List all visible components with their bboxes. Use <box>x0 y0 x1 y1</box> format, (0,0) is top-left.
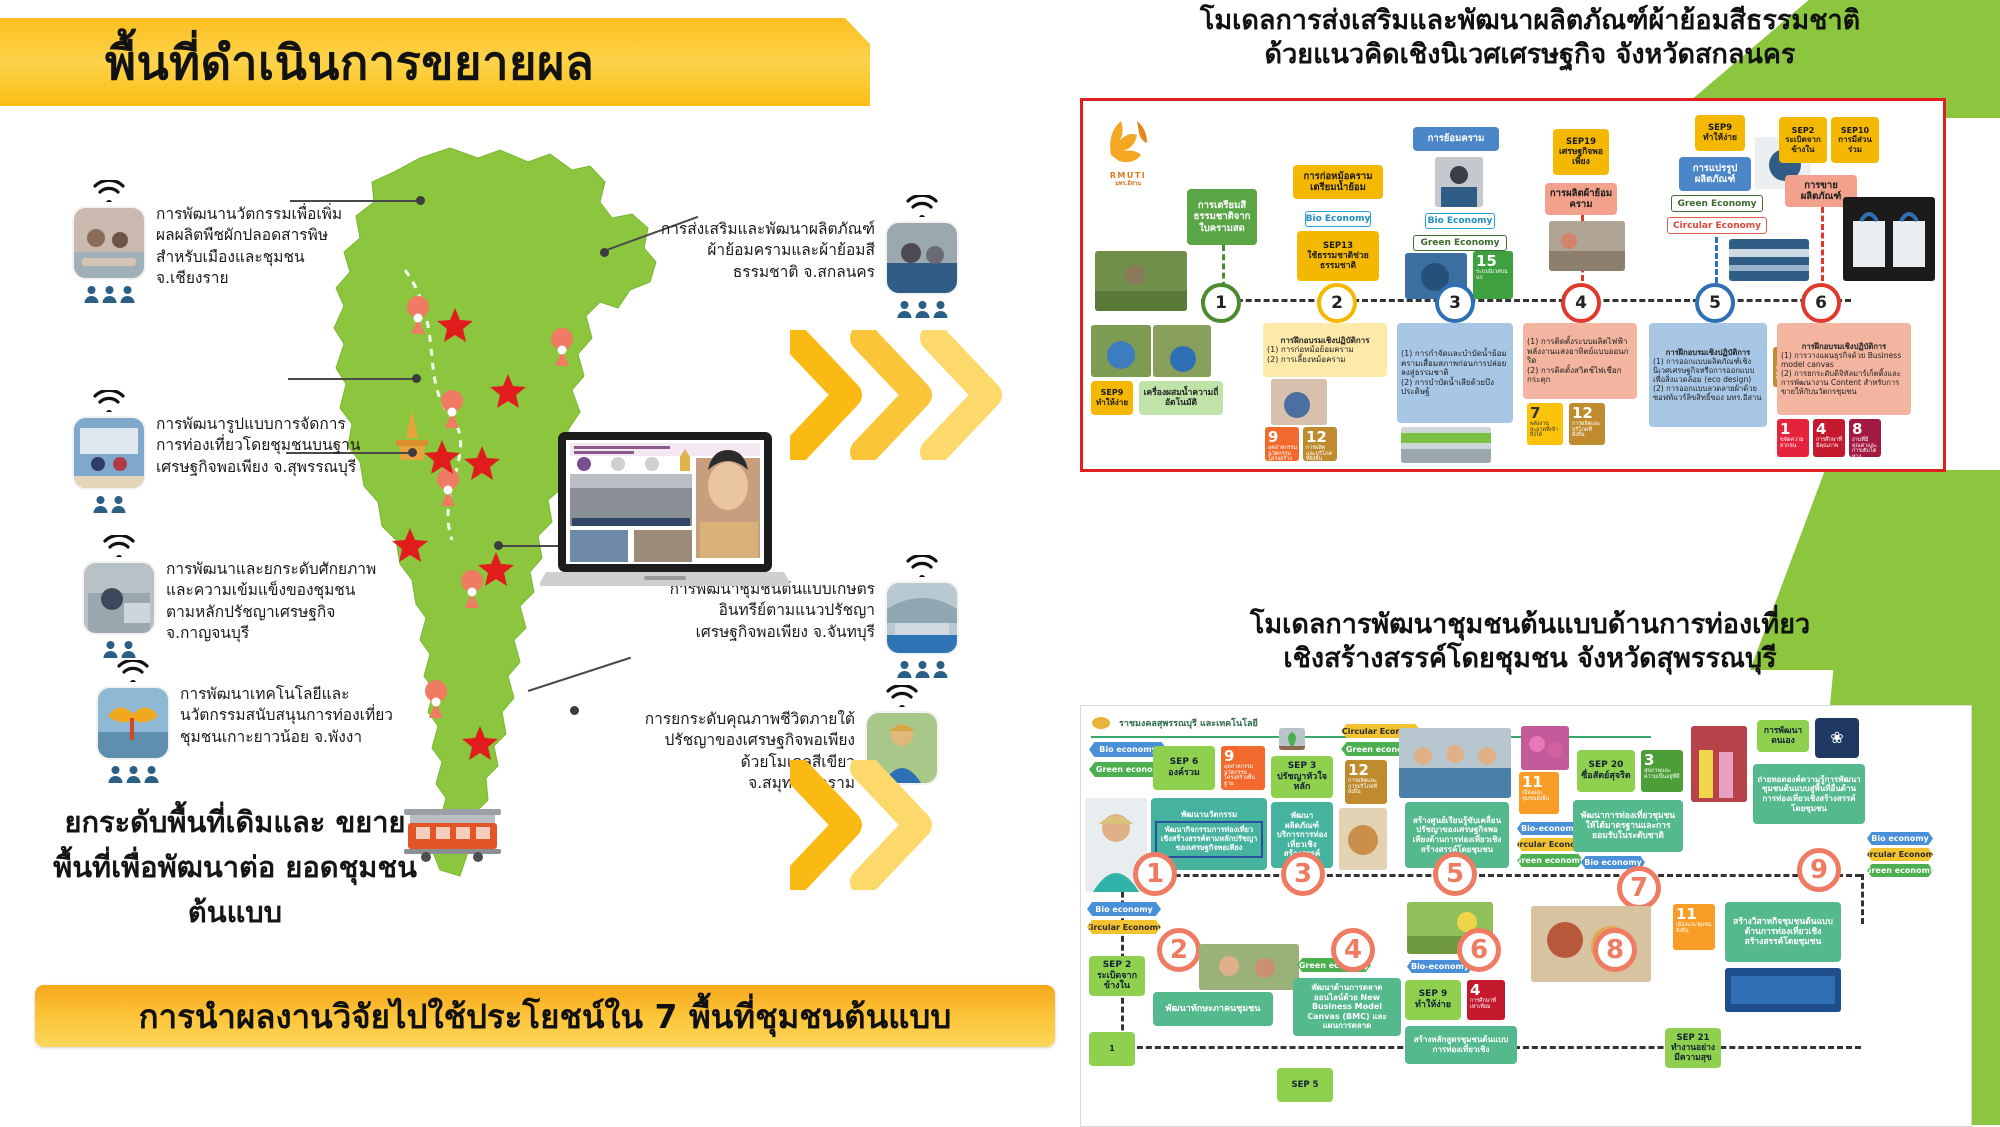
step6-photo-bags <box>1843 197 1935 281</box>
step2-photo <box>1271 379 1327 425</box>
wifi-icon <box>116 660 150 682</box>
sdg-badge: 7 พลังงานสะอาดที่เข้าถึงได้ <box>1527 403 1563 445</box>
suphan-photo-group <box>1399 728 1511 798</box>
sdg-badge: 9 อุตสาหกรรม นวัตกรรม โครงสร้างพื้นฐาน <box>1221 746 1265 790</box>
sdg-badge: 9 อุตสาหกรรม นวัตกรรม โครงสร้างพื้นฐาน <box>1265 427 1299 461</box>
rmuti-logo-icon <box>1097 111 1159 173</box>
sdg-number: 4 <box>1816 422 1842 437</box>
sdg-text: พลังงานสะอาดที่เข้าถึงได้ <box>1530 422 1560 439</box>
sep-code: SEP 9 <box>1419 989 1448 1000</box>
person-icon <box>915 660 930 678</box>
step1-sep-badge: SEP9ทำให้ง่าย <box>1091 381 1133 415</box>
person-icon <box>897 660 912 678</box>
heading-sakon-model: โมเดลการส่งเสริมและพัฒนาผลิตภัณฑ์ผ้าย้อม… <box>1080 4 1980 72</box>
annotation-photo <box>72 206 146 280</box>
suphan-box-c9: ถ่ายทอดองค์ความรู้การพัฒนาชุมชนต้นแบบสู่… <box>1753 764 1865 824</box>
annotation-sakonnakhon: การส่งเสริมและพัฒนาผลิตภัณฑ์ผ้าย้อมครามแ… <box>660 195 959 318</box>
hex-circular-economy: Circular Economy <box>1867 848 1933 861</box>
sep-text: เศรษฐกิจพอเพียง <box>1557 147 1605 167</box>
sdg-badge: 11 เมืองและชุมชนยั่งยืน <box>1519 772 1559 814</box>
person-icon <box>933 660 948 678</box>
sdg-text: เมืองและชุมชนยั่งยืน <box>1522 791 1556 802</box>
step-node-6: 6 <box>1801 283 1841 323</box>
wifi-icon <box>905 555 939 577</box>
bottom-banner-text: การนำผลงานวิจัยไปใช้ประโยชน์ใน 7 พื้นที่… <box>139 990 952 1043</box>
step2-title-chip: การก่อหม้อคราม เตรียมน้ำย้อม <box>1293 165 1383 199</box>
connector-dot <box>494 541 503 550</box>
rmuti-subname: มทร.อีสาน <box>1089 180 1167 188</box>
laptop-graphic <box>540 430 790 610</box>
step4-solar-box: (1) การติดตั้งระบบผลิตไฟฟ้าพลังงานแสงอาท… <box>1523 323 1637 399</box>
step-bubble-1: 1 <box>1133 852 1177 896</box>
people-count-icons <box>103 640 136 658</box>
bottom-summary-banner: การนำผลงานวิจัยไปใช้ประโยชน์ใน 7 พื้นที่… <box>35 985 1055 1047</box>
wifi-icon <box>102 535 136 557</box>
person-icon <box>126 765 141 783</box>
person-icon <box>120 285 135 303</box>
person-icon <box>108 765 123 783</box>
tram-svg <box>400 805 505 863</box>
training-title: การฝึกอบรมเชิงปฏิบัติการ <box>1280 336 1369 346</box>
sdg-text: การศึกษาที่มีคุณภาพ <box>1816 438 1842 449</box>
sdg-number: 9 <box>1268 430 1296 445</box>
rmuti-name: RMUTI <box>1110 171 1147 180</box>
step1-title-chip: การเตรียมสีธรรมชาติจากใบครามสด <box>1187 189 1257 245</box>
step-bubble-2: 2 <box>1157 928 1201 972</box>
suphan-step-mini: 1 <box>1089 1032 1135 1066</box>
sdg-badge: 12 การผลิตและบริโภคที่ยั่งยืน <box>1569 403 1605 445</box>
annotation-photo <box>96 686 170 760</box>
step3-title-chip: การย้อมคราม <box>1413 127 1499 151</box>
diagram-panel-sakon: RMUTI มทร.อีสาน การเตรียมสีธรรมชาติจากใบ… <box>1080 98 1946 472</box>
people-count-icons <box>108 765 159 783</box>
sep-code: SEP9 <box>1101 388 1124 397</box>
sdg-number: 12 <box>1572 406 1602 421</box>
sep-code: SEP19 <box>1566 137 1596 147</box>
sdg-badge: 1 ขจัดความยากจน <box>1777 419 1809 457</box>
sdg-number: 1 <box>1780 422 1806 437</box>
heading-sakon-line1: โมเดลการส่งเสริมและพัฒนาผลิตภัณฑ์ผ้าย้อม… <box>1080 4 1980 72</box>
step-bubble-6: 6 <box>1457 928 1501 972</box>
sep-code: SEP 3 <box>1288 761 1317 772</box>
annotation-phangnga: การพัฒนาเทคโนโลยีและนวัตกรรมสนับสนุนการท… <box>96 660 395 783</box>
step-node-3: 3 <box>1435 283 1475 323</box>
wifi-icon <box>905 195 939 217</box>
suphan-box-c6: สร้างหลักสูตรชุมชนต้นแบบการท่องเที่ยวเชิ… <box>1405 1026 1517 1064</box>
suphan-photo-product <box>1339 808 1387 870</box>
connector-dot <box>412 374 421 383</box>
annotation-photo <box>72 416 146 490</box>
suphan-sep2-badge: SEP 2 ระเบิดจากข้างใน <box>1089 956 1145 996</box>
heading-suphan-line1: โมเดลการพัฒนาชุมชนต้นแบบด้านการท่องเที่ย… <box>1080 608 1980 676</box>
sdg-badge: 4 การศึกษาที่มีคุณภาพ <box>1813 419 1845 457</box>
sdg-number: 11 <box>1676 907 1712 922</box>
suphan-header-text: ราชมงคลสุพรรณบุรี และเทคโนโลยี <box>1119 716 1258 730</box>
page-title: พื้นที่ดำเนินการขยายผล <box>105 25 594 100</box>
sdg-text: เมืองและชุมชนยั่งยืน <box>1676 923 1712 934</box>
sdg-number: 8 <box>1852 422 1878 437</box>
annotation-chiangrai: การพัฒนานวัตกรรมเพื่อเพิ่มผลผลิตพืชผักปล… <box>72 180 371 303</box>
step1-bottom-photo-b <box>1153 325 1211 377</box>
sdg-badge: 3 สุขภาพและความเป็นอยู่ที่ดี <box>1641 750 1683 792</box>
step5-photo-cloth <box>1729 239 1809 281</box>
annotation-media <box>82 535 156 658</box>
hex-green-economy: Green economy <box>1867 864 1933 877</box>
main-title-banner: พื้นที่ดำเนินการขยายผล <box>0 18 870 106</box>
connector-line <box>288 378 416 380</box>
step3-green-tag: Green Economy <box>1413 235 1507 251</box>
sdg-number: 9 <box>1224 749 1262 764</box>
sdg-text: อุตสาหกรรม นวัตกรรม โครงสร้างพื้นฐาน <box>1224 765 1262 788</box>
step4-photo <box>1549 221 1625 271</box>
person-icon <box>103 640 118 658</box>
sep-text: ทำให้ง่าย <box>1703 133 1737 143</box>
step2-sep-badge: SEP13 ใช้ธรรมชาติช่วยธรรมชาติ <box>1297 231 1379 281</box>
chevron-arrows-upper-svg <box>790 330 1030 460</box>
sep-text: ทำงานอย่างมีความสุข <box>1669 1043 1717 1063</box>
wifi-icon <box>885 685 919 707</box>
step-bubble-3: 3 <box>1281 852 1325 896</box>
people-count-icons <box>897 660 948 678</box>
sdg-number: 4 <box>1470 983 1502 998</box>
sdg-number: 3 <box>1644 753 1680 768</box>
sep-code: SEP2 <box>1792 126 1815 136</box>
sdg-number: 7 <box>1530 406 1560 421</box>
suphan-photo-training <box>1199 944 1299 990</box>
sep-text: องค์รวม <box>1168 768 1200 779</box>
sdg-badge: 11 เมืองและชุมชนยั่งยืน <box>1673 904 1715 950</box>
chevron-arrows-upper <box>790 330 1030 460</box>
wifi-icon <box>92 390 126 412</box>
rmuti-logo-caption: RMUTI มทร.อีสาน <box>1089 171 1167 188</box>
suphan-sprout-icon <box>1279 728 1305 750</box>
sdg-number: 11 <box>1522 775 1556 790</box>
suphan-sep9-badge: SEP 9 ทำให้ง่าย <box>1405 980 1461 1020</box>
step3-wetland-photo <box>1401 427 1491 463</box>
sdg-text: ขจัดความยากจน <box>1780 438 1806 449</box>
annotation-text: การพัฒนารูปแบบการจัดการการท่องเที่ยวโดยช… <box>156 390 371 478</box>
sdg-number: 12 <box>1348 763 1384 778</box>
step6-connector <box>1821 207 1824 281</box>
flow-spine-right <box>1861 874 1864 924</box>
suphan-photo-banner <box>1725 968 1841 1012</box>
sep-code: SEP 5 <box>1291 1080 1318 1090</box>
annotation-media <box>885 195 959 318</box>
person-icon <box>121 640 136 658</box>
step2-bio-tag: Bio Economy <box>1305 211 1371 227</box>
annotation-photo <box>82 561 156 635</box>
person-icon <box>102 285 117 303</box>
sdg-text: การผลิตและการบริโภคที่ยั่งยืน <box>1348 779 1384 796</box>
suphan-box-c2: พัฒนาทักษะภาคนชุมชน <box>1153 992 1273 1026</box>
sdg-text: การผลิตและบริโภคที่ยั่งยืน <box>1306 446 1334 461</box>
suphan-flower-icon: ❀ <box>1815 718 1859 758</box>
step3-water-box: (1) การกำจัดและบำบัดน้ำย้อมครามเสื่อมสภา… <box>1397 323 1513 423</box>
suphan-box-c7: พัฒนาการท่องเที่ยวชุมชนให้ได้มาตรฐานและก… <box>1573 800 1683 852</box>
design-text: (1) การออกแบบผลิตภัณฑ์เชิงนิเวศเศรษฐกิจห… <box>1653 357 1763 403</box>
step6-sep2-badge: SEP2 ระเบิดจากข้างใน <box>1779 117 1827 163</box>
sep-text: ระเบิดจากข้างใน <box>1783 135 1823 154</box>
laptop-svg <box>540 430 790 610</box>
suphan-photo-costume <box>1691 726 1747 802</box>
tram-icon <box>400 805 505 863</box>
step5-connector <box>1715 237 1718 283</box>
slide-root: พื้นที่ดำเนินการขยายผล โมเดลการส่งเสริมแ… <box>0 0 2000 1125</box>
annotation-suphanburi: การพัฒนารูปแบบการจัดการการท่องเที่ยวโดยช… <box>72 390 371 513</box>
step1-machine-box: เครื่องผสมน้ำความถี่อัตโนมัติ <box>1139 381 1223 415</box>
step-bubble-5: 5 <box>1433 852 1477 896</box>
step-bubble-8: 8 <box>1593 928 1637 972</box>
step-node-2: 2 <box>1317 283 1357 323</box>
person-icon <box>915 300 930 318</box>
person-icon <box>111 495 126 513</box>
sdg-text: การศึกษาที่เท่าเทียม <box>1470 999 1502 1010</box>
connector-dot <box>600 248 609 257</box>
hex-bio-economy: Bio economy <box>1867 832 1933 845</box>
connector-dot <box>408 448 417 457</box>
hex-green-economy: Green economy <box>1517 854 1583 867</box>
annotation-media <box>96 660 170 783</box>
sdg-badge: 15 ระบบนิเวศบนบก <box>1473 251 1513 299</box>
sdg-badge: 8 งานที่มีคุณค่าและการเติบโตทางเศรษฐกิจ <box>1849 419 1881 457</box>
hex-bio-economy: Bio economy <box>1087 902 1161 916</box>
design-title: การฝึกอบรมเชิงปฏิบัติการ <box>1666 348 1751 357</box>
sep-text: ทำให้ง่าย <box>1415 1000 1451 1011</box>
sdg-badge: 12 การผลิตและการบริโภคที่ยั่งยืน <box>1345 760 1387 804</box>
sdg-number: 12 <box>1306 430 1334 445</box>
rmutsb-logo-icon <box>1091 716 1111 730</box>
hex-circular-economy: Circular Economy <box>1087 920 1161 934</box>
step-bubble-7: 7 <box>1617 866 1661 910</box>
sep-text: ระเบิดจากข้างใน <box>1093 971 1141 993</box>
step1-photo <box>1095 251 1187 311</box>
step5-green-tag: Green Economy <box>1671 195 1763 212</box>
flow-spine-row1 <box>1121 874 1861 877</box>
business-text: (1) การวางแผนธุรกิจด้วย Business model c… <box>1781 351 1907 397</box>
annotation-media <box>72 180 146 303</box>
suphan-box-c8: สร้างวิสาหกิจชุมชนต้นแบบด้านการท่องเที่ย… <box>1725 902 1841 962</box>
business-title: การฝึกอบรมเชิงปฏิบัติการ <box>1802 342 1887 351</box>
step-node-1: 1 <box>1201 283 1241 323</box>
sdg-text: งานที่มีคุณค่าและการเติบโตทางเศรษฐกิจ <box>1852 438 1878 457</box>
step5-design-box: การฝึกอบรมเชิงปฏิบัติการ (1) การออกแบบผล… <box>1649 323 1767 427</box>
suphan-sep20-badge: SEP 20 ซื่อสัตย์สุจริต <box>1577 750 1635 792</box>
sep-code: SEP 20 <box>1589 760 1624 771</box>
mini-step-num: 1 <box>1109 1044 1115 1054</box>
annotation-kanchanaburi: การพัฒนาและยกระดับศักยภาพและความเข้มแข็ง… <box>82 535 381 658</box>
annotation-text: การพัฒนาและยกระดับศักยภาพและความเข้มแข็ง… <box>166 535 381 645</box>
heading-suphan-model: โมเดลการพัฒนาชุมชนต้นแบบด้านการท่องเที่ย… <box>1080 608 1980 676</box>
sep-text: การมีส่วนร่วม <box>1835 135 1875 154</box>
step5-circular-tag: Circular Economy <box>1667 217 1767 234</box>
annotation-media <box>72 390 146 513</box>
step4-sep-badge: SEP19 เศรษฐกิจพอเพียง <box>1553 129 1609 175</box>
sep-code: SEP10 <box>1841 126 1869 136</box>
step2-training-box: การฝึกอบรมเชิงปฏิบัติการ (1) การก่อหม้อย… <box>1263 323 1387 377</box>
training-text: (1) การก่อหม้อย้อมคราม (2) การเลี้ยงหม้อ… <box>1267 345 1354 364</box>
step-bubble-4: 4 <box>1331 928 1375 972</box>
step-bubble-9: 9 <box>1797 848 1841 892</box>
sdg-text: อุตสาหกรรม นวัตกรรม โครงสร้างพื้นฐาน <box>1268 446 1296 461</box>
person-icon <box>144 765 159 783</box>
step6-business-box: การฝึกอบรมเชิงปฏิบัติการ (1) การวางแผนธุ… <box>1777 323 1911 415</box>
expansion-statement: ยกระดับพื้นที่เดิมและ ขยายพื้นที่เพื่อพั… <box>40 800 430 935</box>
people-count-icons <box>897 300 948 318</box>
suphan-sep21-badge: SEP 21 ทำงานอย่างมีความสุข <box>1665 1028 1721 1068</box>
step4-title-chip: การผลิตผ้าย้อมคราม <box>1545 183 1617 215</box>
step3-photo-top <box>1435 157 1483 207</box>
sep-code: SEP 6 <box>1170 757 1199 768</box>
suphan-sep3-badge: SEP 3 ปรัชญาหัวใจหลัก <box>1271 756 1333 798</box>
sdg-badge: 12 การผลิตและบริโภคที่ยั่งยืน <box>1303 427 1337 461</box>
step5-title-chip: การแปรรูปผลิตภัณฑ์ <box>1679 157 1751 191</box>
step-node-4: 4 <box>1561 283 1601 323</box>
sep-text: ทำให้ง่าย <box>1096 398 1128 407</box>
sdg-number: 15 <box>1476 254 1510 269</box>
suphan-box-c10: การพัฒนาตนเอง <box>1757 720 1809 752</box>
step-node-5: 5 <box>1695 283 1735 323</box>
person-icon <box>933 300 948 318</box>
sep-code: SEP13 <box>1323 241 1353 251</box>
sdg-text: ระบบนิเวศบนบก <box>1476 270 1510 281</box>
solar-text: (1) การติดตั้งระบบผลิตไฟฟ้าพลังงานแสงอาท… <box>1527 337 1633 385</box>
flow-spine-dashed <box>1201 299 1851 302</box>
annotation-text: การพัฒนานวัตกรรมเพื่อเพิ่มผลผลิตพืชผักปล… <box>156 180 371 290</box>
sdg-badge: 4 การศึกษาที่เท่าเทียม <box>1467 980 1505 1020</box>
sep-code: SEP9 <box>1708 123 1732 133</box>
annotation-photo <box>885 221 959 295</box>
sep-text: ใช้ธรรมชาติช่วยธรรมชาติ <box>1301 251 1375 271</box>
sep-text: ซื่อสัตย์สุจริต <box>1581 771 1631 782</box>
water-text: (1) การกำจัดและบำบัดน้ำย้อมครามเสื่อมสภา… <box>1401 349 1509 397</box>
connector-dot <box>416 196 425 205</box>
wifi-icon <box>92 180 126 202</box>
step1-bottom-photo-a <box>1091 325 1151 377</box>
sep-code: SEP 2 <box>1103 960 1132 971</box>
person-icon <box>84 285 99 303</box>
sdg-text: การผลิตและบริโภคที่ยั่งยืน <box>1572 422 1602 439</box>
step6-sep10-badge: SEP10 การมีส่วนร่วม <box>1831 117 1879 163</box>
box-c1b-text: พัฒนากิจกรรมการท่องเที่ยวเชิงสร้างสรรค์ต… <box>1155 821 1263 858</box>
suphan-sep5-badge: SEP 5 <box>1277 1068 1333 1102</box>
people-count-icons <box>93 495 126 513</box>
annotation-photo <box>885 581 959 655</box>
person-icon <box>897 300 912 318</box>
annotation-text: การส่งเสริมและพัฒนาผลิตภัณฑ์ผ้าย้อมครามแ… <box>660 195 875 283</box>
suphan-sep6-badge: SEP 6 องค์รวม <box>1153 746 1215 790</box>
connector-dot <box>570 706 579 715</box>
box-c1-text: พัฒนานวัตกรรม <box>1181 810 1237 820</box>
chevron-arrows-lower-svg <box>790 760 1030 890</box>
annotation-media <box>885 555 959 678</box>
step5-sep-badge: SEP9 ทำให้ง่าย <box>1695 115 1745 151</box>
chevron-arrows-lower <box>790 760 1030 890</box>
people-count-icons <box>84 285 135 303</box>
annotation-text: การพัฒนาเทคโนโลยีและนวัตกรรมสนับสนุนการท… <box>180 660 395 748</box>
sep-code: SEP 21 <box>1677 1033 1710 1043</box>
sdg-text: สุขภาพและความเป็นอยู่ที่ดี <box>1644 769 1680 780</box>
diagram-panel-suphan: ราชมงคลสุพรรณบุรี และเทคโนโลยี Bio econo… <box>1080 705 1972 1127</box>
suphan-box-c4: พัฒนาด้านการตลาดออนไลน์ด้วย New Business… <box>1293 978 1401 1036</box>
person-icon <box>93 495 108 513</box>
sep-text: ปรัชญาหัวใจหลัก <box>1275 772 1329 794</box>
step3-bio-tag: Bio Economy <box>1425 213 1495 229</box>
suphan-photo-flowers <box>1521 726 1569 770</box>
